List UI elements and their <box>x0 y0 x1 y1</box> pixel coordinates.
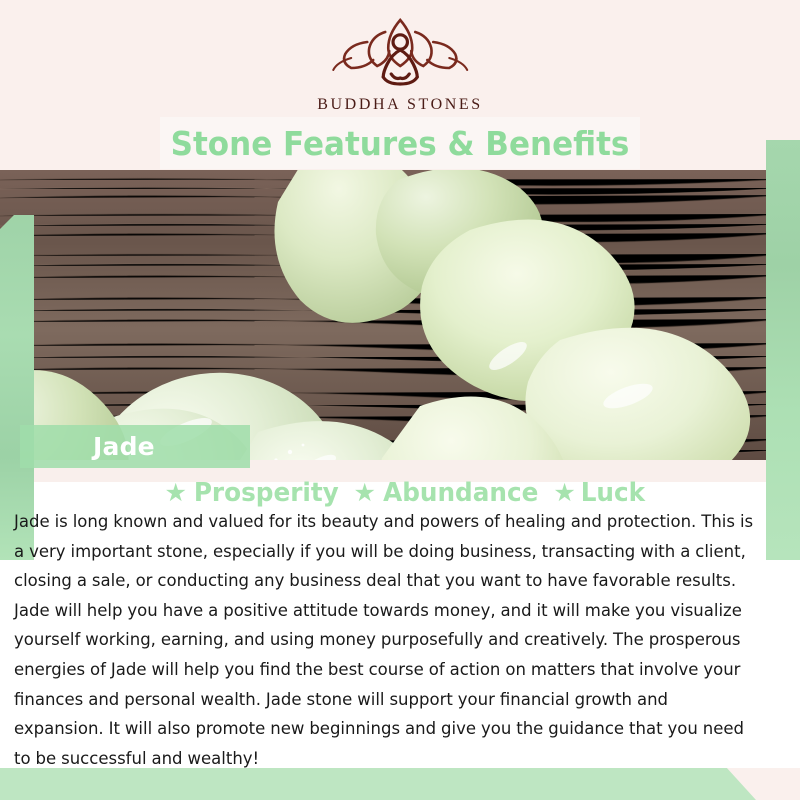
stone-photo <box>0 170 783 460</box>
star-icon: ★ <box>353 481 375 506</box>
star-icon: ★ <box>164 481 186 506</box>
star-icon: ★ <box>553 481 575 506</box>
stone-photo-illustration <box>0 170 783 460</box>
title-banner: Stone Features & Benefits <box>160 117 640 169</box>
keyword-abundance: Abundance <box>383 478 538 508</box>
keyword-luck: Luck <box>580 478 644 508</box>
page-title: Stone Features & Benefits <box>171 124 630 163</box>
stone-name-label: Jade <box>93 432 155 461</box>
keyword-prosperity: Prosperity <box>194 478 339 508</box>
stone-name-bar: Jade <box>20 425 250 468</box>
brand-logo: BUDDHA STONES <box>317 14 483 114</box>
lotus-meditation-icon <box>325 14 475 92</box>
stone-feature-card: BUDDHA STONES Stone Features & Benefits … <box>0 0 800 800</box>
keyword-row: ★Prosperity★Abundance★Luck <box>0 478 800 508</box>
brand-name: BUDDHA STONES <box>317 96 483 114</box>
description-text: Jade is long known and valued for its be… <box>14 508 755 774</box>
